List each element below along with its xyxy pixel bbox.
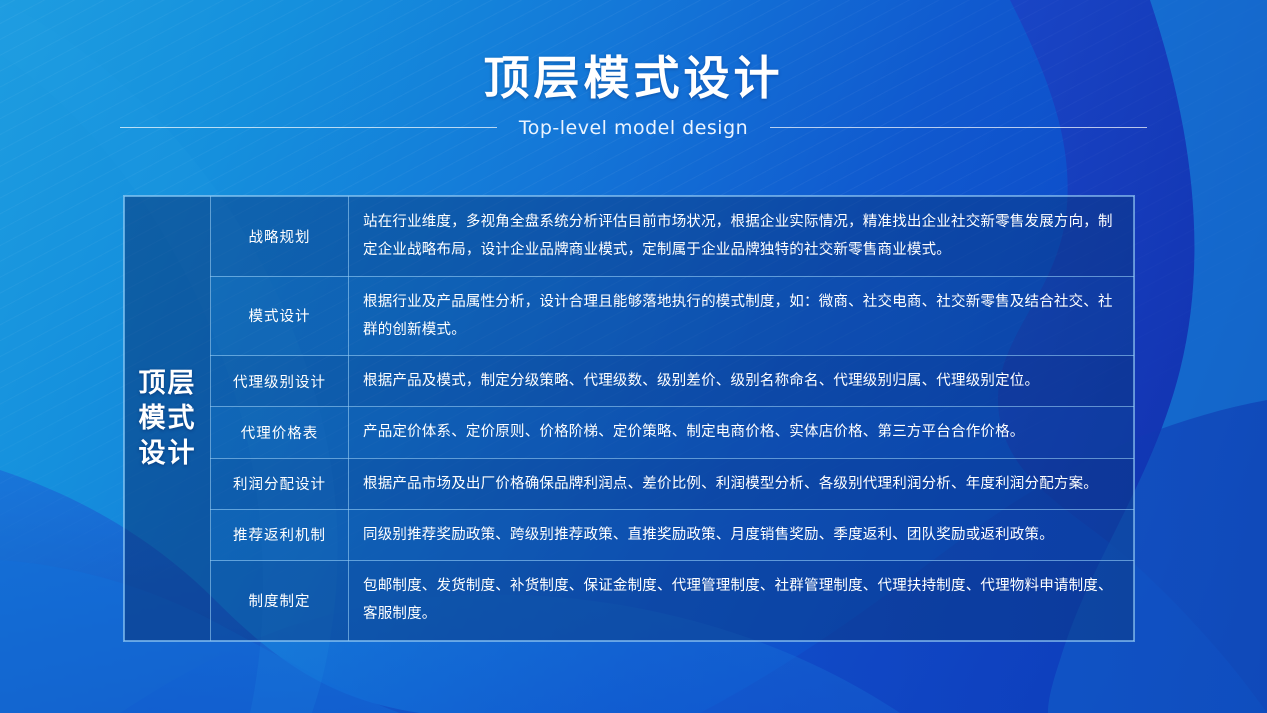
row-desc-referral-rebate: 同级别推荐奖励政策、跨级别推荐政策、直推奖励政策、月度销售奖励、季度返利、团队奖…: [349, 509, 1134, 560]
table-row: 制度制定 包邮制度、发货制度、补货制度、保证金制度、代理管理制度、社群管理制度、…: [125, 561, 1134, 641]
page-title: 顶层模式设计: [0, 0, 1267, 105]
slide-header: 顶层模式设计 Top-level model design: [0, 0, 1267, 139]
row-desc-agent-price-list: 产品定价体系、定价原则、价格阶梯、定价策略、制定电商价格、实体店价格、第三方平台…: [349, 407, 1134, 458]
row-name-model-design: 模式设计: [211, 276, 349, 356]
table-row: 推荐返利机制 同级别推荐奖励政策、跨级别推荐政策、直推奖励政策、月度销售奖励、季…: [125, 509, 1134, 560]
row-desc-policy-making: 包邮制度、发货制度、补货制度、保证金制度、代理管理制度、社群管理制度、代理扶持制…: [349, 561, 1134, 641]
top-level-model-table: 顶层 模式 设计 战略规划 站在行业维度，多视角全盘系统分析评估目前市场状况，根…: [124, 196, 1134, 641]
row-name-agent-level-design: 代理级别设计: [211, 356, 349, 407]
row-desc-model-design: 根据行业及产品属性分析，设计合理且能够落地执行的模式制度，如：微商、社交电商、社…: [349, 276, 1134, 356]
row-name-policy-making: 制度制定: [211, 561, 349, 641]
table-row: 代理价格表 产品定价体系、定价原则、价格阶梯、定价策略、制定电商价格、实体店价格…: [125, 407, 1134, 458]
row-desc-agent-level-design: 根据产品及模式，制定分级策略、代理级数、级别差价、级别名称命名、代理级别归属、代…: [349, 356, 1134, 407]
group-cell: 顶层 模式 设计: [125, 197, 211, 641]
rule-left: [120, 127, 497, 128]
group-label: 顶层 模式 设计: [131, 366, 204, 471]
content-table-wrapper: 顶层 模式 设计 战略规划 站在行业维度，多视角全盘系统分析评估目前市场状况，根…: [124, 196, 1134, 641]
page-subtitle: Top-level model design: [519, 117, 748, 139]
table-row: 顶层 模式 设计 战略规划 站在行业维度，多视角全盘系统分析评估目前市场状况，根…: [125, 197, 1134, 277]
row-desc-profit-distribution: 根据产品市场及出厂价格确保品牌利润点、差价比例、利润模型分析、各级别代理利润分析…: [349, 458, 1134, 509]
table-row: 利润分配设计 根据产品市场及出厂价格确保品牌利润点、差价比例、利润模型分析、各级…: [125, 458, 1134, 509]
row-name-agent-price-list: 代理价格表: [211, 407, 349, 458]
subtitle-row: Top-level model design: [0, 117, 1267, 139]
row-desc-strategic-planning: 站在行业维度，多视角全盘系统分析评估目前市场状况，根据企业实际情况，精准找出企业…: [349, 197, 1134, 277]
row-name-referral-rebate: 推荐返利机制: [211, 509, 349, 560]
row-name-profit-distribution: 利润分配设计: [211, 458, 349, 509]
rule-right: [770, 127, 1147, 128]
table-row: 模式设计 根据行业及产品属性分析，设计合理且能够落地执行的模式制度，如：微商、社…: [125, 276, 1134, 356]
slide-root: 顶层模式设计 Top-level model design 顶层 模式 设计 战…: [0, 0, 1267, 713]
row-name-strategic-planning: 战略规划: [211, 197, 349, 277]
table-row: 代理级别设计 根据产品及模式，制定分级策略、代理级数、级别差价、级别名称命名、代…: [125, 356, 1134, 407]
